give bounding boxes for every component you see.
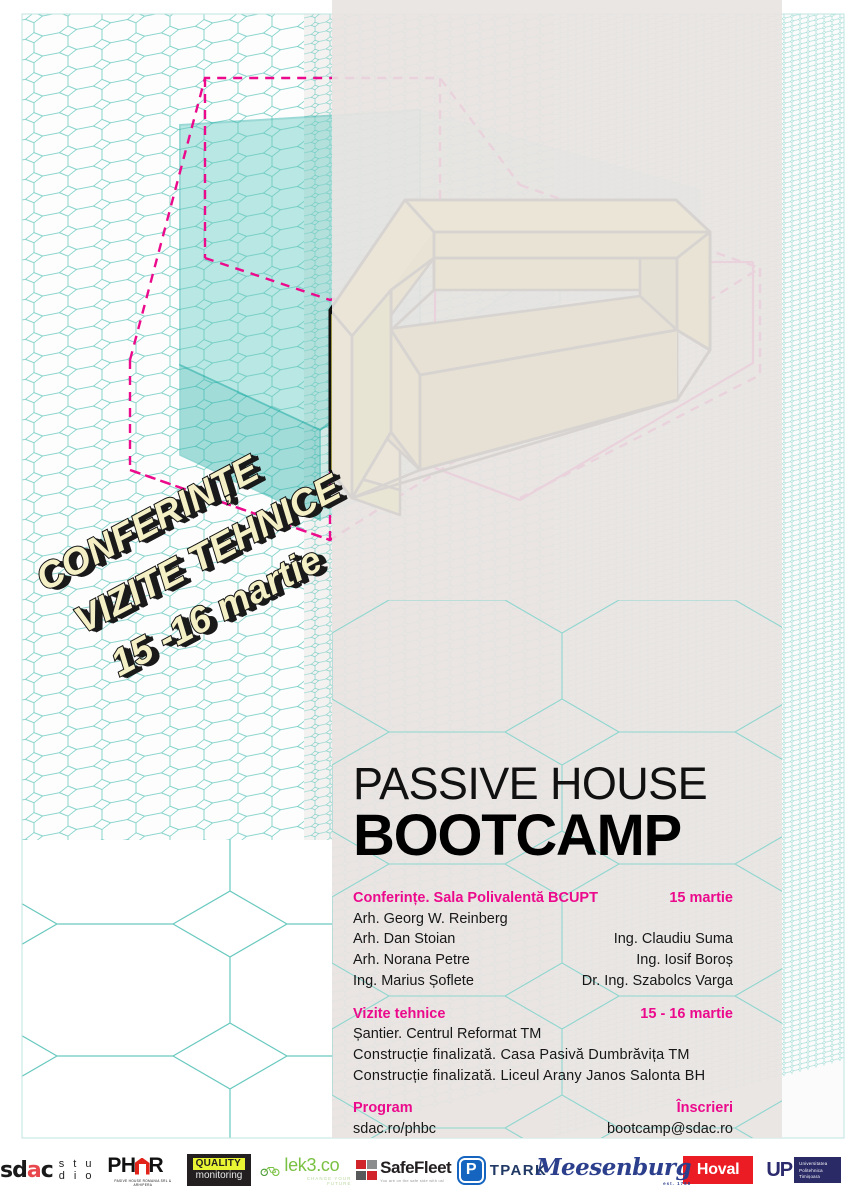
logo-meesenburg[interactable]: Meesenburg est. 1788 (551, 1148, 677, 1192)
contact-heading-row: Program Înscrieri (353, 1098, 733, 1119)
speaker-right-0: Ing. Claudiu Suma (582, 929, 733, 950)
meesenburg-established: est. 1788 (536, 1181, 691, 1186)
safefleet-wordmark: SafeFleet (380, 1158, 451, 1177)
tpark-p-icon: P (459, 1158, 484, 1183)
speaker-right-2: Dr. Ing. Szabolcs Varga (582, 971, 733, 992)
visit-item-2: Construcție finalizată. Liceul Arany Jan… (353, 1066, 733, 1087)
quality-line2: monitoring (193, 1170, 246, 1182)
sdac-studio-label: s t u d i o (59, 1158, 108, 1182)
logo-sdac-studio[interactable]: sdac s t u d i o (0, 1148, 107, 1192)
quality-line1: QUALITY (193, 1158, 246, 1170)
contact-values-row: sdac.ro/phbc bootcamp@sdac.ro (353, 1119, 733, 1140)
logo-safefleet[interactable]: SafeFleet You are on the safe side with … (351, 1148, 455, 1192)
speaker-left-1: Arh. Dan Stoian (353, 929, 474, 950)
logo-upt[interactable]: UP Universitatea Politehnica Timișoara (760, 1148, 848, 1192)
conferences-date: 15 martie (669, 888, 733, 909)
phar-wordmark: PHR PASIVE HOUSE ROMANIA SRL & ARHIPERA (107, 1154, 178, 1187)
lek3-wordmark: lek3.co (284, 1155, 339, 1175)
speaker-left-0: Arh. Georg W. Reinberg (353, 909, 733, 930)
phar-tail: R (149, 1154, 164, 1177)
spacer-2 (353, 1086, 733, 1098)
house-icon (135, 1158, 150, 1175)
speakers-two-columns: Arh. Dan Stoian Arh. Norana Petre Ing. M… (353, 929, 733, 991)
speakers-right-column: Ing. Claudiu Suma Ing. Iosif Boroș Dr. I… (582, 929, 733, 991)
visits-heading: Vizite tehnice (353, 1004, 445, 1025)
speaker-right-1: Ing. Iosif Boroș (582, 950, 733, 971)
visits-heading-row: Vizite tehnice 15 - 16 martie (353, 1004, 733, 1025)
visit-item-1: Construcție finalizată. Casa Pasivă Dumb… (353, 1045, 733, 1066)
conferences-heading-row: Conferințe. Sala Polivalentă BCUPT 15 ma… (353, 888, 733, 909)
safefleet-mark-icon (356, 1160, 378, 1180)
lek3-tagline: CHANGE YOUR FUTURE (284, 1176, 351, 1186)
program-url[interactable]: sdac.ro/phbc (353, 1119, 436, 1140)
title-passive-house: PASSIVE HOUSE (353, 762, 753, 805)
title-bootcamp: BOOTCAMP (353, 807, 753, 865)
upt-name-box: Universitatea Politehnica Timișoara (794, 1157, 841, 1183)
logo-phar[interactable]: PHR PASIVE HOUSE ROMANIA SRL & ARHIPERA (107, 1148, 178, 1192)
meesenburg-lockup: Meesenburg est. 1788 (536, 1154, 691, 1186)
upt-mark: UP (766, 1157, 794, 1183)
safefleet-tagline: You are on the safe side with us! (380, 1178, 451, 1183)
sdac-wordmark: sdac (0, 1158, 53, 1183)
page-title: PASSIVE HOUSE BOOTCAMP (353, 762, 753, 865)
visit-item-0: Șantier. Centrul Reformat TM (353, 1024, 733, 1045)
phar-subtitle: PASIVE HOUSE ROMANIA SRL & ARHIPERA (107, 1179, 178, 1187)
program-details: Conferințe. Sala Polivalentă BCUPT 15 ma… (353, 888, 733, 1176)
program-heading: Program (353, 1098, 413, 1119)
conferences-heading: Conferințe. Sala Polivalentă BCUPT (353, 888, 598, 909)
spacer-1 (353, 992, 733, 1004)
registration-heading: Înscrieri (677, 1098, 733, 1119)
speaker-left-3: Ing. Marius Șoflete (353, 971, 474, 992)
logo-lek3[interactable]: lek3.co CHANGE YOUR FUTURE (260, 1148, 352, 1192)
logo-quality-monitoring[interactable]: QUALITY monitoring (178, 1148, 259, 1192)
hoval-wordmark: Hoval (683, 1156, 754, 1184)
meesenburg-wordmark: Meesenburg (536, 1154, 691, 1181)
upt-lockup: UP Universitatea Politehnica Timișoara (766, 1157, 841, 1183)
lek3-lockup: lek3.co CHANGE YOUR FUTURE (260, 1155, 352, 1186)
registration-email[interactable]: bootcamp@sdac.ro (607, 1119, 733, 1140)
poster-canvas: CONFERINȚE VIZITE TEHNICE 15 -16 martie … (0, 0, 848, 1200)
speaker-left-2: Arh. Norana Petre (353, 950, 474, 971)
bicycle-icon (260, 1164, 281, 1177)
tpark-lockup: P TPARK (459, 1158, 548, 1183)
safefleet-lockup: SafeFleet You are on the safe side with … (356, 1158, 452, 1183)
sponsor-bar: sdac s t u d i o PHR PASIVE HOUSE ROMANI… (0, 1140, 848, 1200)
phar-main: PH (107, 1154, 135, 1177)
visits-date: 15 - 16 martie (640, 1004, 733, 1025)
upt-line3: Timișoara (799, 1174, 827, 1181)
upt-line1: Universitatea (799, 1161, 827, 1168)
quality-badge: QUALITY monitoring (187, 1154, 252, 1186)
upt-line2: Politehnica (799, 1168, 827, 1175)
speakers-left-column: Arh. Dan Stoian Arh. Norana Petre Ing. M… (353, 929, 474, 991)
